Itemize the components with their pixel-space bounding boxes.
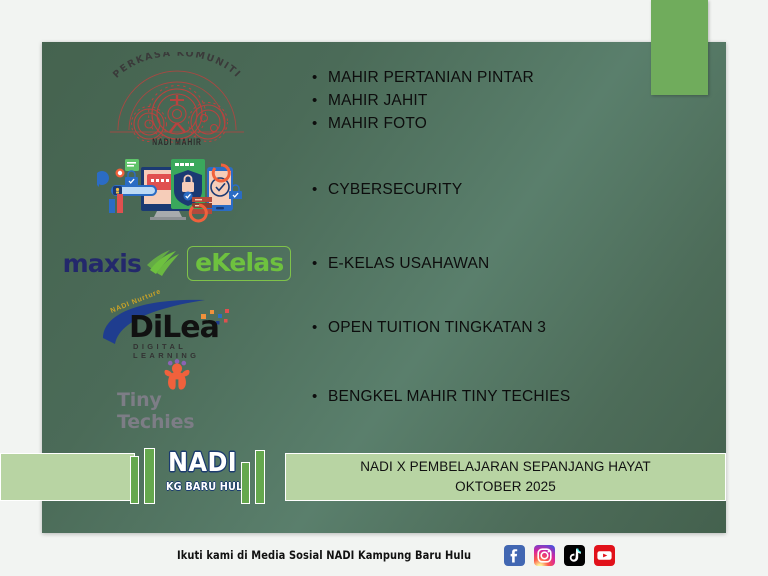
bullet-item: • OPEN TUITION TINGKATAN 3 (312, 316, 726, 339)
tiny-techies-mark-icon (147, 359, 207, 393)
bullet-label: MAHIR FOTO (328, 112, 427, 135)
program-row: maxis eKelas • E-KELA (42, 232, 726, 294)
bullet-dot-icon: • (312, 66, 328, 89)
nadi-mahir-gears (92, 52, 262, 148)
bullet-group: • CYBERSECURITY (312, 178, 726, 201)
bullet-item: • CYBERSECURITY (312, 178, 726, 201)
bullet-group: • E-KELAS USAHAWAN (312, 252, 726, 275)
bullet-dot-icon: • (312, 89, 328, 112)
title-line-1: NADI X PEMBELAJARAN SEPANJANG HAYAT (360, 457, 651, 477)
bullet-dot-icon: • (312, 316, 328, 339)
bullet-item: • MAHIR JAHIT (312, 89, 726, 112)
nadi-mahir-logo: PERKASA KOMUNITI (92, 52, 262, 148)
program-row: PERKASA KOMUNITI (42, 52, 726, 148)
bullet-item: • MAHIR FOTO (312, 112, 726, 135)
bullet-item: • BENGKEL MAHIR TINY TECHIES (312, 385, 726, 408)
bullet-dot-icon: • (312, 385, 328, 408)
youtube-icon[interactable] (594, 545, 615, 566)
bullet-label: E-KELAS USAHAWAN (328, 252, 489, 275)
bullet-label: BENGKEL MAHIR TINY TECHIES (328, 385, 570, 408)
green-bar (144, 448, 155, 504)
logo-cell: Tiny Techies (42, 359, 312, 433)
logo-cell: maxis eKelas (42, 243, 312, 283)
green-bar (130, 456, 139, 504)
nadi-wordmark: NADI (168, 448, 237, 478)
footer-bar: Ikuti kami di Media Sosial NADI Kampung … (0, 538, 768, 572)
tiktok-icon[interactable] (564, 545, 585, 566)
logo-cell: NADI Nurture DiLea DIGITAL LEARNING (42, 296, 312, 358)
dilea-tagline: DIGITAL LEARNING (133, 342, 257, 360)
bullet-label: CYBERSECURITY (328, 178, 462, 201)
cybersecurity-illustration (97, 151, 257, 227)
bullet-label: MAHIR JAHIT (328, 89, 428, 112)
title-line-2: OKTOBER 2025 (455, 477, 556, 497)
bullet-item: • E-KELAS USAHAWAN (312, 252, 726, 275)
ekelas-box: eKelas (187, 246, 291, 281)
left-light-green-box (0, 453, 135, 501)
bullet-group: • OPEN TUITION TINGKATAN 3 (312, 316, 726, 339)
bullet-dot-icon: • (312, 178, 328, 201)
tiny-techies-wordmark: Tiny Techies (117, 389, 237, 433)
logo-cell: PERKASA KOMUNITI (42, 52, 312, 148)
bullet-group: • BENGKEL MAHIR TINY TECHIES (312, 385, 726, 408)
slide-title-band: NADI X PEMBELAJARAN SEPANJANG HAYAT OKTO… (285, 453, 726, 501)
maxis-ekelas-logo: maxis eKelas (63, 243, 292, 283)
bullet-group: • MAHIR PERTANIAN PINTAR • MAHIR JAHIT •… (312, 66, 726, 135)
ekelas-wordmark: eKelas (195, 248, 283, 277)
bullet-label: MAHIR PERTANIAN PINTAR (328, 66, 534, 89)
program-row: NADI Nurture DiLea DIGITAL LEARNING • OP… (42, 295, 726, 359)
program-list: PERKASA KOMUNITI (42, 42, 726, 427)
maxis-wordmark: maxis (63, 249, 142, 278)
bullet-item: • MAHIR PERTANIAN PINTAR (312, 66, 726, 89)
instagram-icon[interactable] (534, 545, 555, 566)
logo-cell (42, 151, 312, 227)
bullet-label: OPEN TUITION TINGKATAN 3 (328, 316, 546, 339)
dilea-logo: NADI Nurture DiLea DIGITAL LEARNING (97, 296, 257, 358)
program-row: Tiny Techies • BENGKEL MAHIR TINY TECHIE… (42, 360, 726, 432)
dilea-wordmark: DiLea (129, 310, 219, 345)
tiny-techies-logo: Tiny Techies (117, 359, 237, 433)
facebook-icon[interactable] (504, 545, 525, 566)
cyber-devices-icon (97, 151, 257, 227)
presentation-slide: PERKASA KOMUNITI (0, 0, 768, 576)
green-bar (255, 450, 265, 504)
bullet-dot-icon: • (312, 252, 328, 275)
program-row: • CYBERSECURITY (42, 150, 726, 228)
nadi-brand-logo: NADI KG BARU HULU (128, 440, 283, 510)
nadi-mahir-label: NADI MAHIR (113, 137, 241, 147)
green-bar (241, 462, 250, 504)
footer-follow-text: Ikuti kami di Media Sosial NADI Kampung … (177, 548, 471, 562)
maxis-swoosh-icon (146, 248, 182, 278)
nadi-location-label: KG BARU HULU (166, 480, 250, 493)
bullet-dot-icon: • (312, 112, 328, 135)
